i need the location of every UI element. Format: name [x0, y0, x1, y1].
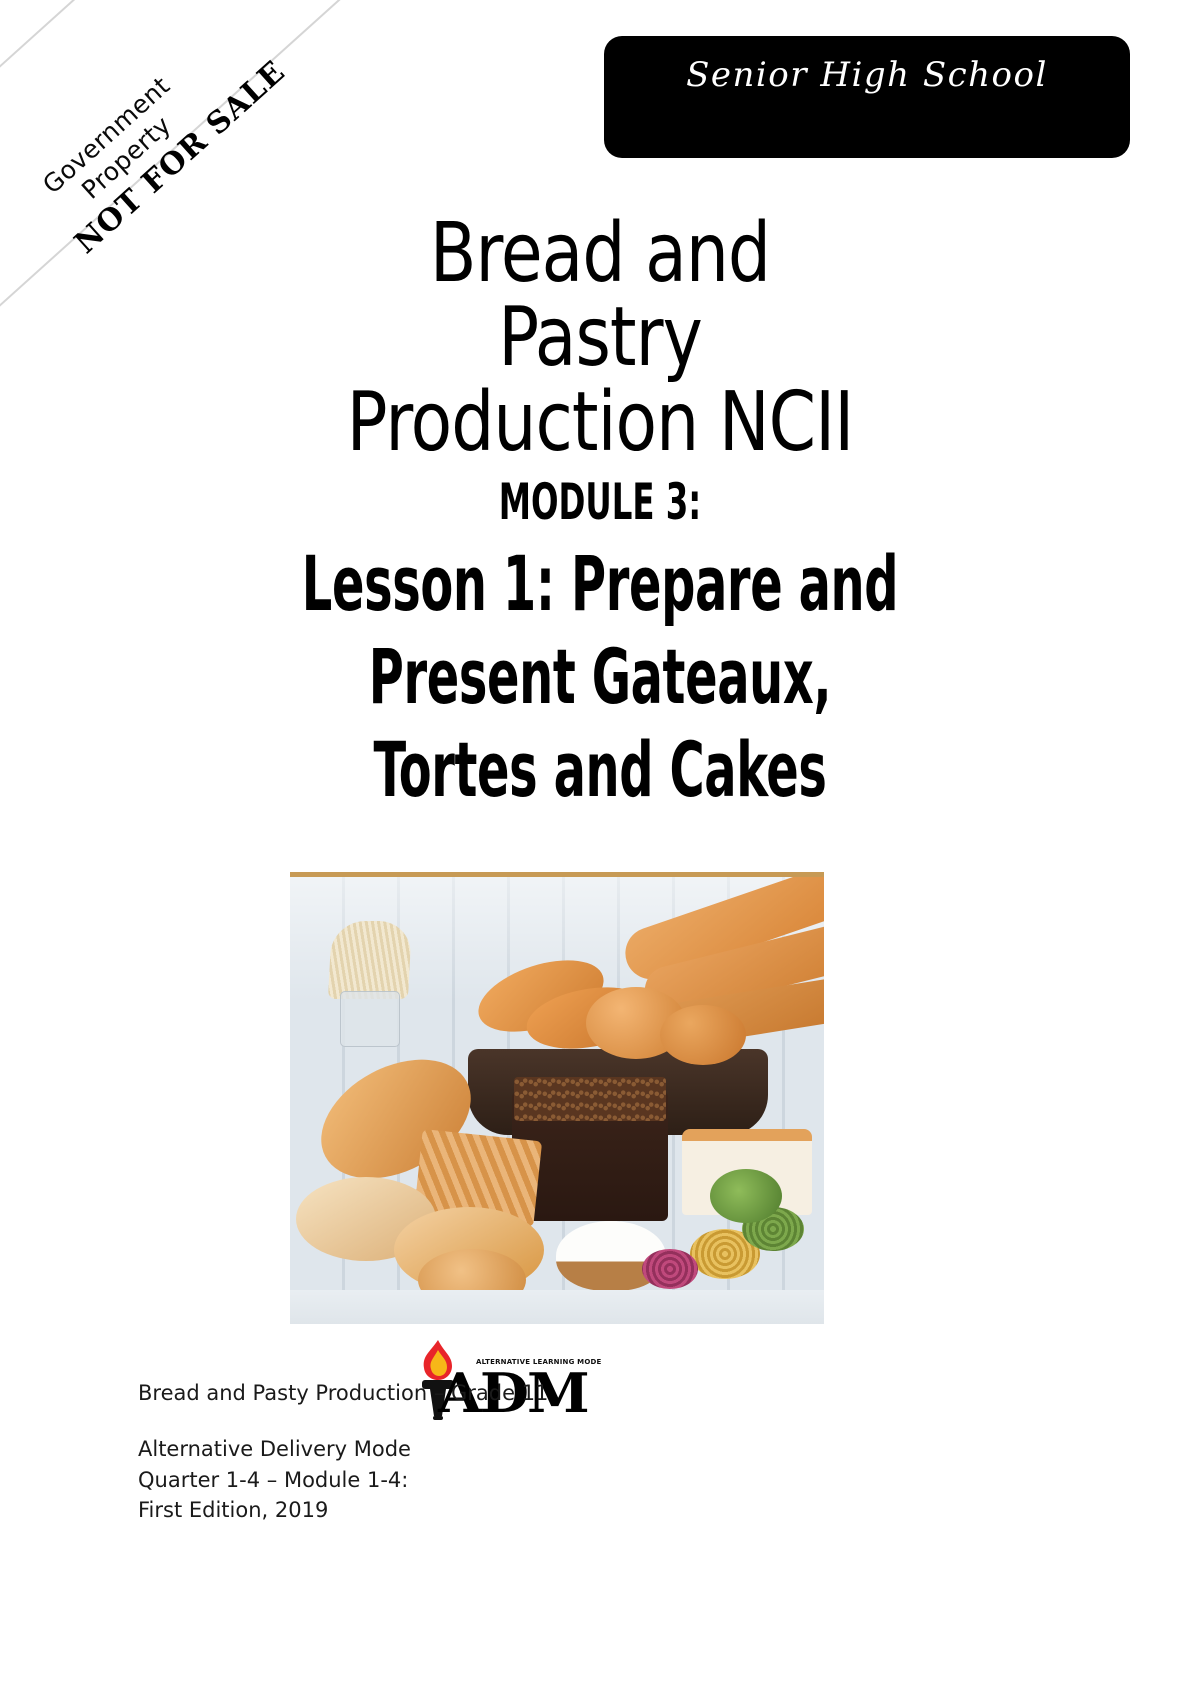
footer-spacer: [138, 1408, 838, 1434]
banner-line-government: Government: [26, 61, 187, 210]
module-cover-page: Government Property NOT FOR SALE Senior …: [0, 0, 1200, 1698]
wheat-bundle-icon: [324, 921, 416, 1041]
footer-edition: First Edition, 2019: [138, 1495, 838, 1525]
footer-metadata: Bread and Pasty Production – Grade 11 Al…: [138, 1378, 838, 1526]
banner-government-property: Government Property: [26, 61, 207, 232]
cover-photo: [290, 872, 824, 1324]
bread-roll-4: [660, 1005, 746, 1065]
course-title-line-3: Production NCII: [103, 381, 1097, 465]
course-title-line-1: Bread and: [103, 212, 1097, 296]
table-surface: [290, 1290, 824, 1324]
lesson-title-line-2: Present Gateaux,: [222, 631, 978, 724]
lesson-title-line-1: Lesson 1: Prepare and: [222, 538, 978, 631]
lesson-title-line-3: Tortes and Cakes: [222, 724, 978, 817]
footer-quarter-module: Quarter 1-4 – Module 1-4:: [138, 1465, 838, 1495]
footer-subject-grade: Bread and Pasty Production – Grade 11: [138, 1378, 838, 1408]
banner-line-property: Property: [46, 83, 207, 232]
footer-delivery-mode: Alternative Delivery Mode: [138, 1434, 838, 1464]
seed-topping: [514, 1077, 666, 1121]
banner-rule-top: [0, 0, 267, 201]
senior-high-school-label: Senior High School: [604, 55, 1130, 95]
module-label: MODULE 3:: [211, 475, 989, 530]
green-garnish: [710, 1169, 782, 1223]
pasta-nest-3: [642, 1249, 698, 1289]
senior-high-school-badge: Senior High School: [604, 36, 1130, 158]
title-block: Bread and Pastry Production NCII MODULE …: [60, 212, 1140, 817]
course-title-line-2: Pastry: [103, 296, 1097, 380]
lesson-title: Lesson 1: Prepare and Present Gateaux, T…: [60, 538, 1140, 816]
